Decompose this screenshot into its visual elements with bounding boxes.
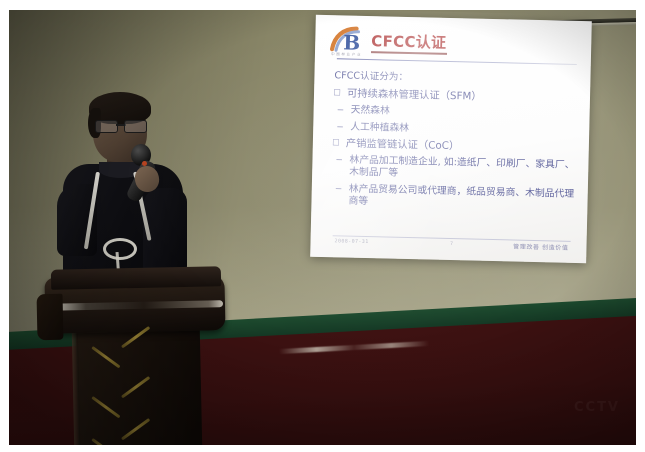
bullet-marker: □ — [333, 138, 346, 150]
list-item: □ 可持续森林管理认证（SFM） — [334, 87, 578, 105]
bullet-marker: □ — [334, 87, 347, 99]
bullet-marker: – — [336, 183, 349, 195]
podium-top-surface — [51, 266, 221, 290]
slide-title: CFCC认证 — [371, 30, 447, 53]
list-item: □ 产销监管链认证（CoC） — [333, 138, 577, 156]
list-item: – 林产品加工制造企业, 如:造纸厂、印刷厂、家具厂、木制品厂等 — [336, 155, 576, 185]
logo-subtext: 中国林业产业 — [331, 52, 362, 58]
slide-page-number: 7 — [450, 241, 453, 247]
header-divider — [337, 58, 577, 65]
list-item: – 天然森林 — [337, 104, 577, 122]
bullet-text: 林产品加工制造企业, 如:造纸厂、印刷厂、家具厂、木制品厂等 — [349, 155, 576, 184]
svg-text:B: B — [343, 30, 360, 54]
slide-slogan: 管理改善 创造价值 — [513, 241, 569, 251]
bullet-text: 天然森林 — [350, 105, 389, 118]
slide-bullet-list: CFCC认证分为： □ 可持续森林管理认证（SFM） – 天然森林 – 人工种植… — [331, 67, 578, 217]
title-underline — [371, 51, 447, 55]
podium — [37, 268, 227, 445]
glasses-icon — [95, 120, 147, 131]
bullet-text: 人工种植森林 — [350, 121, 409, 134]
list-item: – 林产品贸易公司或代理商，纸品贸易商、木制品代理商等 — [335, 183, 575, 213]
bullet-text: 产销监管链认证（CoC） — [346, 138, 460, 153]
slide-header: B 中国林业产业 CFCC认证 — [329, 25, 582, 67]
photo-frame: CCTV B 中国林业产业 CFCC认证 — [0, 0, 645, 452]
list-item: – 人工种植森林 — [337, 121, 577, 139]
photograph: CCTV B 中国林业产业 CFCC认证 — [9, 10, 636, 445]
slide-content: B 中国林业产业 CFCC认证 CFCC认证分为： □ 可持续森林管理认证（SF… — [324, 25, 581, 257]
podium-chevron-icon — [97, 396, 149, 426]
bullet-marker: – — [336, 155, 349, 167]
slide-footer: 2008-07-31 7 管理改善 创造价值 — [332, 235, 570, 255]
podium-side-block — [37, 294, 64, 341]
podium-chevron-icon — [97, 438, 149, 445]
podium-chevron-icon — [97, 346, 149, 376]
projected-slide: B 中国林业产业 CFCC认证 CFCC认证分为： □ 可持续森林管理认证（SF… — [310, 15, 592, 263]
bullet-marker: – — [337, 121, 350, 133]
slide-intro-text: CFCC认证分为： — [334, 67, 578, 87]
bullet-text: 林产品贸易公司或代理商，纸品贸易商、木制品代理商等 — [348, 183, 575, 212]
slide-date: 2008-07-31 — [334, 238, 368, 245]
presenter — [47, 92, 207, 292]
lanyard-loop — [103, 238, 137, 260]
bullet-marker: – — [337, 104, 350, 116]
bullet-text: 可持续森林管理认证（SFM） — [347, 88, 482, 104]
